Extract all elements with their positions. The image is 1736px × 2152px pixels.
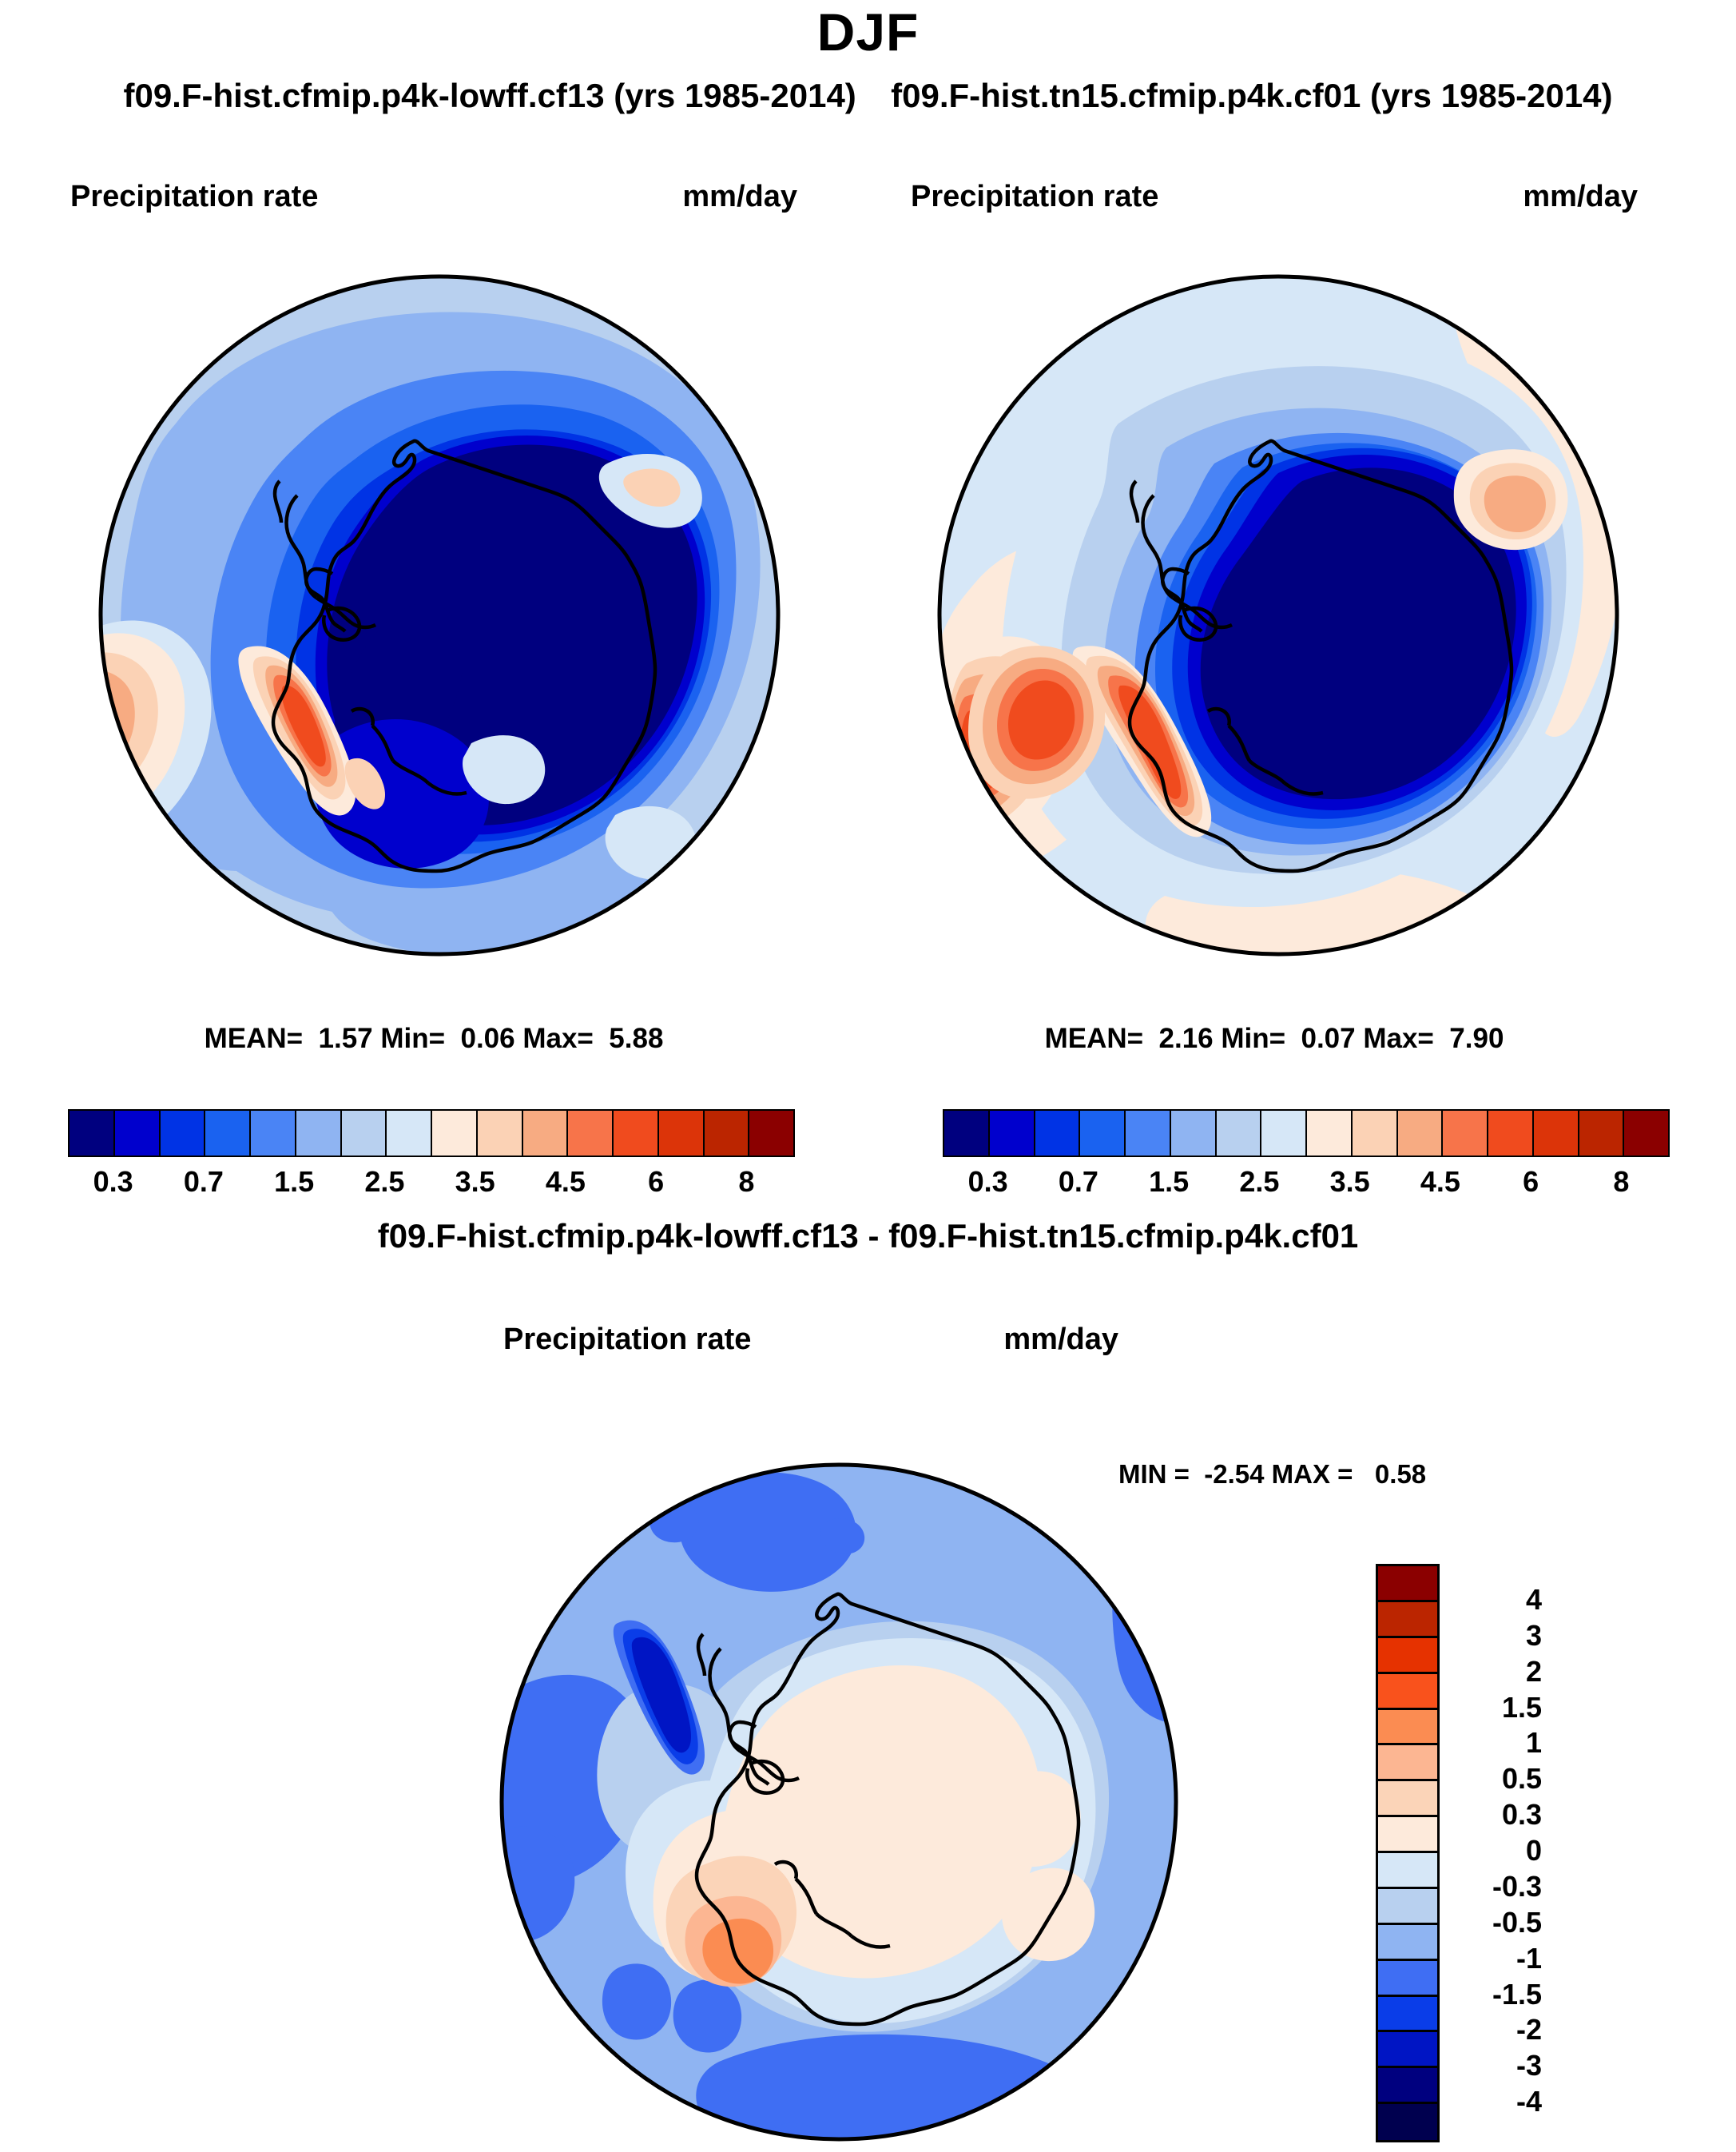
left-panel-header: Precipitation rate mm/day	[70, 180, 797, 215]
colorbar-swatch[interactable]	[1624, 1111, 1668, 1156]
diff-panel-header: Precipitation rate mm/day	[503, 1323, 1118, 1358]
colorbar-swatch[interactable]	[1378, 1781, 1437, 1817]
colorbar-swatch[interactable]	[1443, 1111, 1488, 1156]
colorbar-right-labels: 0.30.71.52.53.54.568	[943, 1165, 1670, 1205]
colorbar-swatch[interactable]	[115, 1111, 161, 1156]
colorbar-swatch[interactable]	[1378, 1817, 1437, 1853]
colorbar-swatch[interactable]	[1378, 1566, 1437, 1602]
colorbar-swatch[interactable]	[1378, 2032, 1437, 2068]
colorbar-tick-label: -1	[1454, 1942, 1542, 1975]
colorbar-swatch[interactable]	[1378, 1925, 1437, 1961]
colorbar-swatch[interactable]	[1378, 2068, 1437, 2104]
colorbar-tick-label: 3.5	[455, 1165, 495, 1199]
colorbar-tick-label: 8	[1613, 1165, 1629, 1199]
colorbar-swatch[interactable]	[1353, 1111, 1398, 1156]
colorbar-swatch[interactable]	[614, 1111, 659, 1156]
colorbar-tick-label: 2	[1454, 1655, 1542, 1689]
colorbar-swatch[interactable]	[432, 1111, 478, 1156]
colorbar-swatch[interactable]	[1378, 2104, 1437, 2140]
colorbar-tick-label: 0	[1454, 1834, 1542, 1868]
colorbar-swatch[interactable]	[1378, 1889, 1437, 1925]
colorbar-swatch[interactable]	[1378, 1961, 1437, 1997]
colorbar-difference-labels: 4321.510.50.30-0.3-0.5-1-1.5-2-3-4	[1454, 1564, 1630, 2138]
colorbar-tick-label: 0.5	[1454, 1762, 1542, 1796]
colorbar-swatch[interactable]	[1307, 1111, 1353, 1156]
colorbar-swatch[interactable]	[1378, 1638, 1437, 1674]
colorbar-tick-label: 4.5	[546, 1165, 586, 1199]
map-difference	[479, 1454, 1198, 2150]
colorbar-swatch[interactable]	[1378, 1853, 1437, 1889]
colorbar-swatch[interactable]	[1080, 1111, 1126, 1156]
colorbar-swatch[interactable]	[1217, 1111, 1262, 1156]
colorbar-swatch[interactable]	[990, 1111, 1035, 1156]
map-left	[88, 264, 791, 967]
colorbar-tick-label: 0.3	[1454, 1798, 1542, 1832]
colorbar-swatch[interactable]	[1378, 1602, 1437, 1638]
colorbar-swatch[interactable]	[1378, 1710, 1437, 1746]
left-units-label: mm/day	[682, 180, 797, 214]
colorbar-tick-label: 1	[1454, 1726, 1542, 1760]
left-variable-label: Precipitation rate	[70, 180, 318, 214]
colorbar-tick-label: 8	[738, 1165, 754, 1199]
page-title: DJF	[0, 2, 1736, 62]
colorbar-tick-label: 6	[1523, 1165, 1539, 1199]
colorbar-tick-label: 1.5	[1149, 1165, 1189, 1199]
diff-variable-label: Precipitation rate	[503, 1323, 751, 1357]
colorbar-swatch[interactable]	[659, 1111, 705, 1156]
colorbar-difference[interactable]	[1376, 1564, 1440, 2142]
colorbar-tick-label: -2	[1454, 2013, 1542, 2047]
colorbar-swatch[interactable]	[568, 1111, 614, 1156]
colorbar-swatch[interactable]	[1579, 1111, 1625, 1156]
right-stats: MEAN= 2.16 Min= 0.07 Max= 7.90	[911, 1023, 1638, 1055]
colorbar-swatch[interactable]	[1378, 1745, 1437, 1781]
colorbar-swatch[interactable]	[1534, 1111, 1579, 1156]
case-title-left: f09.F-hist.cfmip.p4k-lowff.cf13 (yrs 198…	[123, 77, 856, 115]
diff-minmax-text: MIN = -2.54 MAX = 0.58	[1118, 1459, 1678, 1490]
colorbar-swatch[interactable]	[161, 1111, 206, 1156]
colorbar-swatch[interactable]	[944, 1111, 990, 1156]
colorbar-left-labels: 0.30.71.52.53.54.568	[68, 1165, 795, 1205]
colorbar-tick-label: 1.5	[1454, 1691, 1542, 1724]
colorbar-left[interactable]	[68, 1109, 795, 1157]
colorbar-swatch[interactable]	[749, 1111, 793, 1156]
colorbar-swatch[interactable]	[1378, 1997, 1437, 2033]
colorbar-swatch[interactable]	[296, 1111, 342, 1156]
colorbar-swatch[interactable]	[387, 1111, 432, 1156]
colorbar-swatch[interactable]	[342, 1111, 387, 1156]
colorbar-tick-label: 6	[648, 1165, 664, 1199]
colorbar-swatch[interactable]	[1171, 1111, 1217, 1156]
right-units-label: mm/day	[1523, 180, 1638, 214]
colorbar-swatch[interactable]	[251, 1111, 296, 1156]
colorbar-tick-label: 4	[1454, 1583, 1542, 1617]
colorbar-tick-label: 1.5	[274, 1165, 314, 1199]
colorbar-swatch[interactable]	[1035, 1111, 1081, 1156]
colorbar-swatch[interactable]	[1126, 1111, 1171, 1156]
colorbar-tick-label: 3	[1454, 1619, 1542, 1653]
colorbar-swatch[interactable]	[1261, 1111, 1307, 1156]
colorbar-tick-label: -0.3	[1454, 1870, 1542, 1903]
colorbar-swatch[interactable]	[478, 1111, 523, 1156]
case-titles-row: f09.F-hist.cfmip.p4k-lowff.cf13 (yrs 198…	[0, 77, 1736, 115]
colorbar-tick-label: 2.5	[1239, 1165, 1279, 1199]
colorbar-tick-label: 3.5	[1330, 1165, 1370, 1199]
colorbar-swatch[interactable]	[70, 1111, 115, 1156]
colorbar-tick-label: -3	[1454, 2049, 1542, 2082]
difference-title: f09.F-hist.cfmip.p4k-lowff.cf13 - f09.F-…	[0, 1217, 1736, 1255]
colorbar-swatch[interactable]	[1378, 1674, 1437, 1710]
colorbar-tick-label: 0.7	[1059, 1165, 1098, 1199]
colorbar-right[interactable]	[943, 1109, 1670, 1157]
colorbar-tick-label: -4	[1454, 2085, 1542, 2118]
case-title-right: f09.F-hist.tn15.cfmip.p4k.cf01 (yrs 1985…	[891, 77, 1612, 115]
colorbar-tick-label: 0.3	[93, 1165, 133, 1199]
colorbar-tick-label: -0.5	[1454, 1906, 1542, 1939]
colorbar-swatch[interactable]	[523, 1111, 569, 1156]
colorbar-tick-label: 2.5	[364, 1165, 404, 1199]
diff-units-label: mm/day	[1003, 1323, 1118, 1357]
colorbar-swatch[interactable]	[205, 1111, 251, 1156]
colorbar-swatch[interactable]	[1398, 1111, 1444, 1156]
left-stats: MEAN= 1.57 Min= 0.06 Max= 5.88	[70, 1023, 797, 1055]
map-right	[927, 264, 1630, 967]
colorbar-tick-label: -1.5	[1454, 1978, 1542, 2011]
right-panel-header: Precipitation rate mm/day	[911, 180, 1638, 215]
colorbar-swatch[interactable]	[1488, 1111, 1534, 1156]
colorbar-tick-label: 0.7	[184, 1165, 224, 1199]
colorbar-tick-label: 4.5	[1420, 1165, 1460, 1199]
colorbar-swatch[interactable]	[705, 1111, 750, 1156]
colorbar-tick-label: 0.3	[968, 1165, 1008, 1199]
right-variable-label: Precipitation rate	[911, 180, 1158, 214]
